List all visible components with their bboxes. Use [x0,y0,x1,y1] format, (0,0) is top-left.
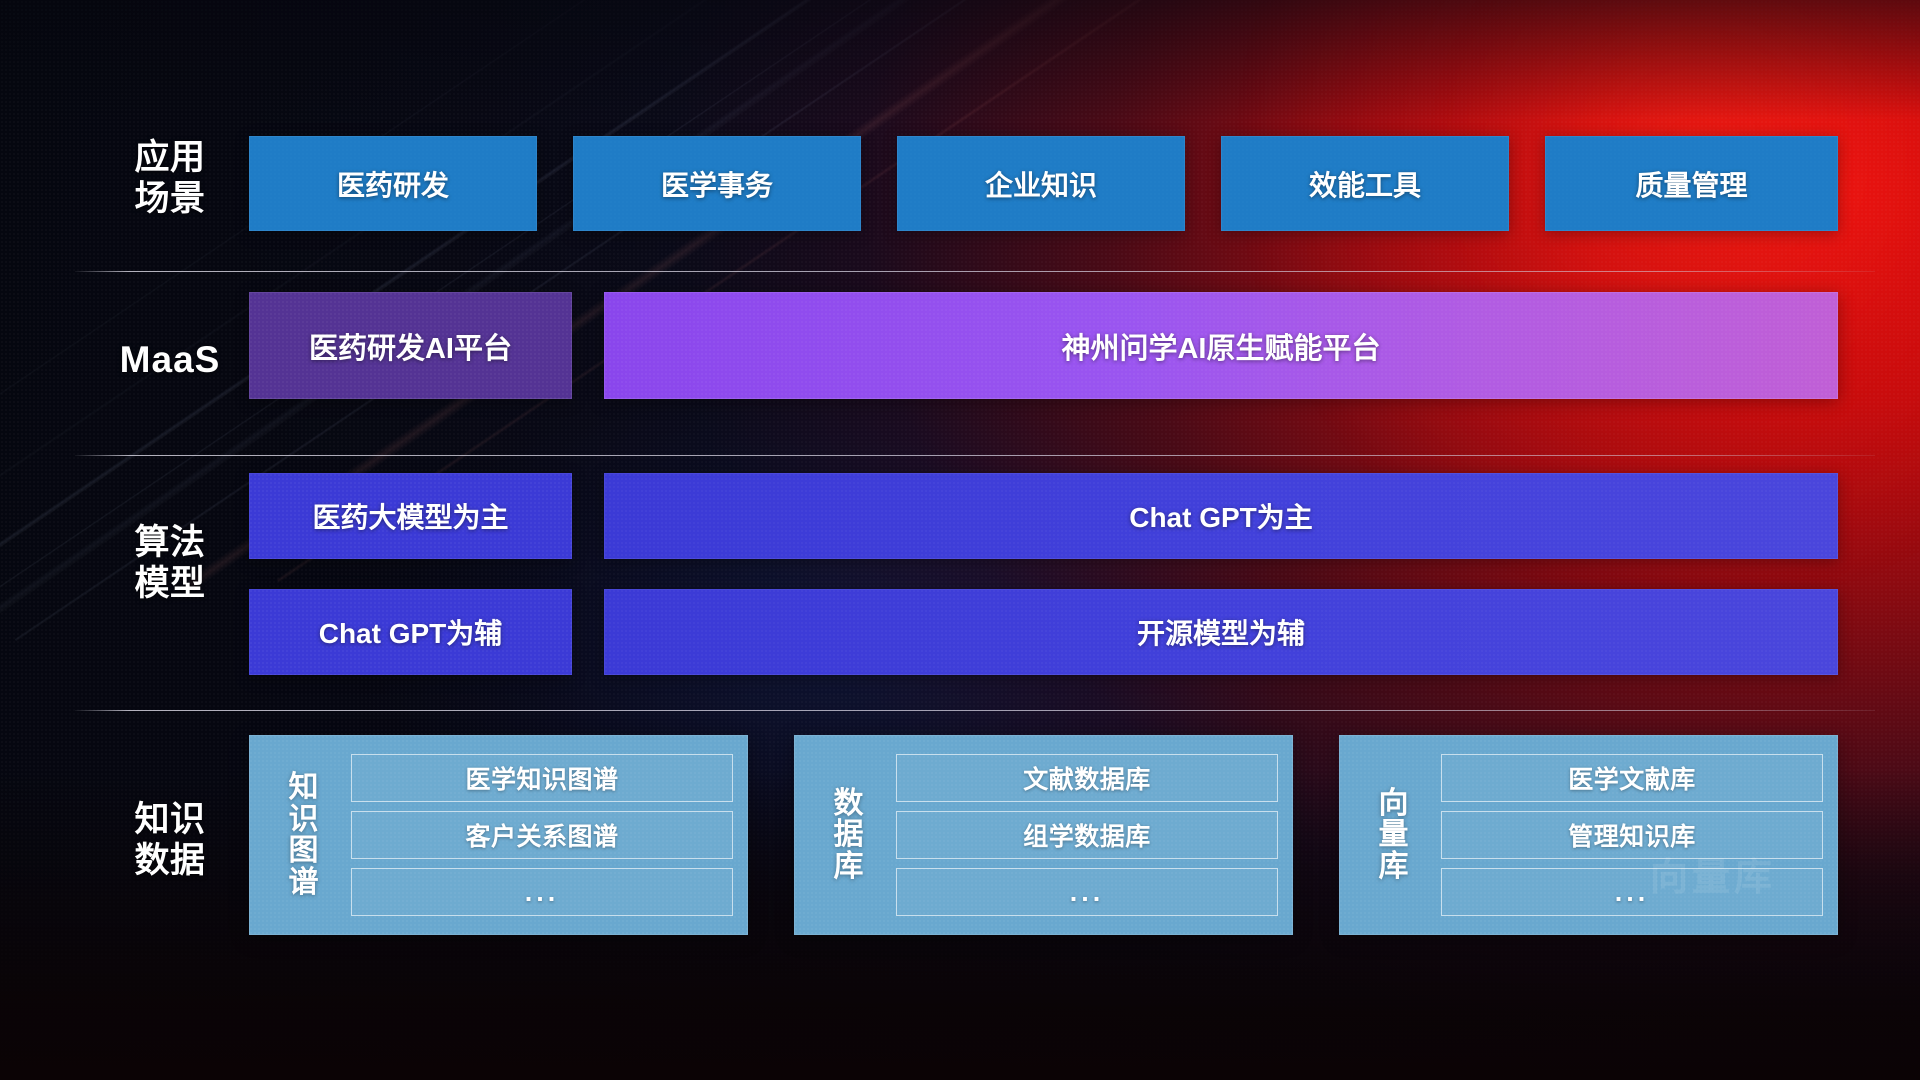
maas-box-shenzhou-platform[interactable]: 神州问学AI原生赋能平台 [604,292,1838,399]
vector-store-title-char-3: 库 [1379,851,1410,883]
maas-box-shenzhou-platform-label: 神州问学AI原生赋能平台 [1061,325,1380,367]
alg-box-chatgpt-secondary[interactable]: Chat GPT为辅 [249,589,572,675]
database-title-char-3: 库 [834,851,865,883]
alg-box-pharma-llm-primary-label: 医药大模型为主 [312,496,508,536]
architecture-diagram: 应用 场景 医药研发 医学事务 企业知识 效能工具 质量管理 MaaS 医药研发… [0,0,1920,1080]
knowledge-panel-vector-store-title: 向 量 库 [1357,788,1431,883]
vector-store-item-more[interactable]: ... [1441,868,1823,916]
alg-box-chatgpt-primary-label: Chat GPT为主 [1129,496,1313,536]
row-label-algorithm: 算法 模型 [90,523,250,605]
app-box-enterprise-knowledge[interactable]: 企业知识 [897,136,1185,231]
database-title-char-2: 据 [834,819,865,851]
divider-algorithm-knowledge [75,710,1875,711]
row-label-application-line2: 场景 [90,179,250,220]
database-item-literature[interactable]: 文献数据库 [896,754,1278,802]
knowledge-graph-title-char-4: 谱 [289,867,320,899]
vector-store-title-char-1: 向 [1379,788,1410,820]
row-label-maas: MaaS [90,338,250,381]
app-box-efficiency-tools[interactable]: 效能工具 [1221,136,1509,231]
knowledge-graph-title-char-1: 知 [289,772,320,804]
vector-store-title-char-2: 量 [1379,819,1410,851]
app-box-quality-management-label: 质量管理 [1635,164,1747,204]
app-box-medical-affairs[interactable]: 医学事务 [573,136,861,231]
row-label-knowledge-line1: 知识 [90,800,250,841]
divider-maas-algorithm [75,455,1875,456]
app-box-medical-affairs-label: 医学事务 [661,164,773,204]
alg-box-chatgpt-secondary-label: Chat GPT为辅 [319,612,503,652]
knowledge-panel-database[interactable]: 数 据 库 文献数据库 组学数据库 ... [794,735,1293,935]
row-label-algorithm-line1: 算法 [90,523,250,564]
vector-store-item-list: 医学文献库 管理知识库 ... [1431,741,1838,929]
knowledge-graph-title-char-3: 图 [289,835,320,867]
alg-box-chatgpt-primary[interactable]: Chat GPT为主 [604,473,1838,559]
database-item-omics[interactable]: 组学数据库 [896,811,1278,859]
database-title-char-1: 数 [834,788,865,820]
row-label-knowledge: 知识 数据 [90,800,250,882]
knowledge-graph-item-customer[interactable]: 客户关系图谱 [351,811,733,859]
alg-box-opensource-secondary-label: 开源模型为辅 [1137,612,1305,652]
divider-application-maas [75,271,1875,272]
knowledge-graph-item-medical[interactable]: 医学知识图谱 [351,754,733,802]
row-label-maas-text: MaaS [90,338,250,381]
app-box-pharma-rd-label: 医药研发 [337,164,449,204]
row-label-knowledge-line2: 数据 [90,841,250,882]
knowledge-panel-knowledge-graph[interactable]: 知 识 图 谱 医学知识图谱 客户关系图谱 ... [249,735,748,935]
knowledge-panel-knowledge-graph-title: 知 识 图 谱 [267,772,341,898]
vector-store-item-management[interactable]: 管理知识库 [1441,811,1823,859]
alg-box-opensource-secondary[interactable]: 开源模型为辅 [604,589,1838,675]
knowledge-graph-title-char-2: 识 [289,804,320,836]
database-item-list: 文献数据库 组学数据库 ... [886,741,1293,929]
app-box-efficiency-tools-label: 效能工具 [1309,164,1421,204]
knowledge-panel-vector-store[interactable]: 向量库 向 量 库 医学文献库 管理知识库 ... [1339,735,1838,935]
vector-store-item-medical-literature[interactable]: 医学文献库 [1441,754,1823,802]
app-box-enterprise-knowledge-label: 企业知识 [985,164,1097,204]
app-box-quality-management[interactable]: 质量管理 [1545,136,1838,231]
maas-box-pharma-ai-platform-label: 医药研发AI平台 [309,325,512,367]
app-box-pharma-rd[interactable]: 医药研发 [249,136,537,231]
knowledge-graph-item-list: 医学知识图谱 客户关系图谱 ... [341,741,748,929]
knowledge-panel-database-title: 数 据 库 [812,788,886,883]
row-label-algorithm-line2: 模型 [90,564,250,605]
knowledge-graph-item-more[interactable]: ... [351,868,733,916]
database-item-more[interactable]: ... [896,868,1278,916]
row-label-application: 应用 场景 [90,138,250,220]
row-label-application-line1: 应用 [90,138,250,179]
slide-canvas: 应用 场景 医药研发 医学事务 企业知识 效能工具 质量管理 MaaS 医药研发… [0,0,1920,1080]
alg-box-pharma-llm-primary[interactable]: 医药大模型为主 [249,473,572,559]
maas-box-pharma-ai-platform[interactable]: 医药研发AI平台 [249,292,572,399]
